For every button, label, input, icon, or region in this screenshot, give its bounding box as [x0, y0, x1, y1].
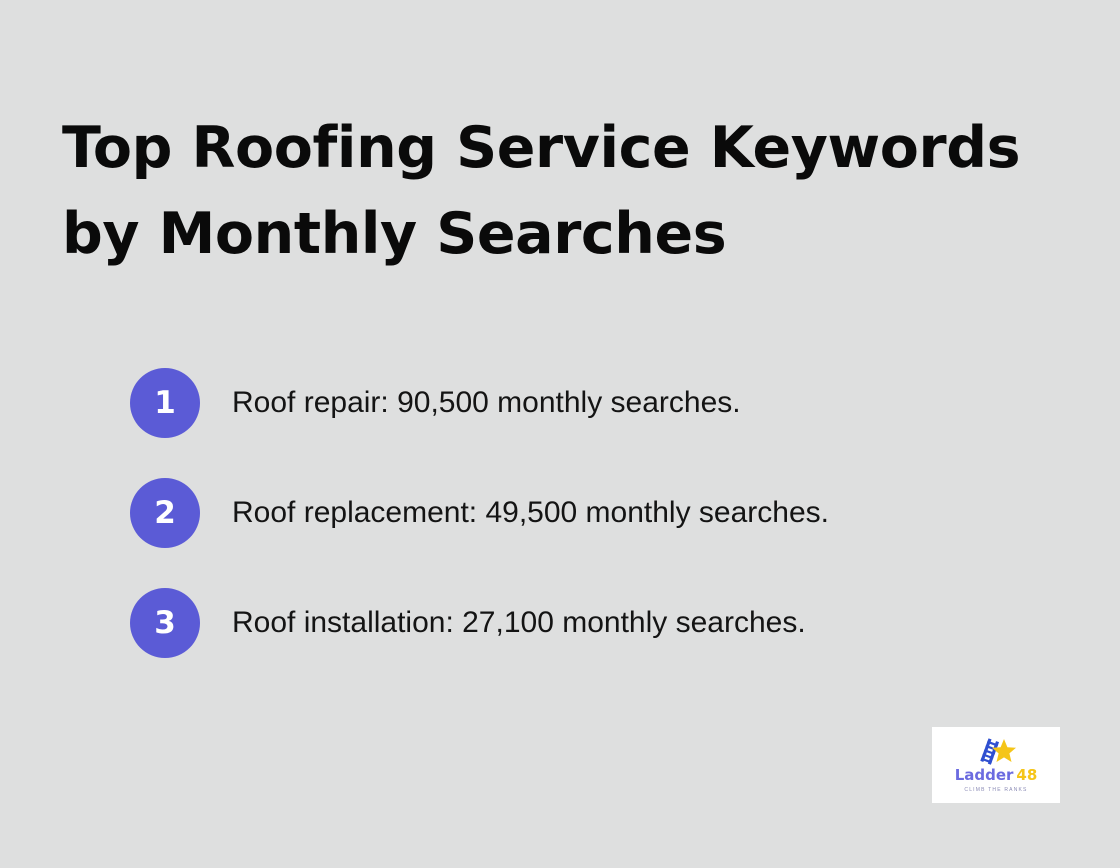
list-item-badge-2: 2	[130, 478, 200, 548]
keyword-list: 1 Roof repair: 90,500 monthly searches. …	[130, 368, 1030, 698]
list-item-badge-1: 1	[130, 368, 200, 438]
title-block: Top Roofing Service Keywords by Monthly …	[62, 106, 1042, 277]
logo-tagline: CLIMB THE RANKS	[964, 787, 1027, 793]
list-item: 3 Roof installation: 27,100 monthly sear…	[130, 588, 1030, 658]
list-item: 2 Roof replacement: 49,500 monthly searc…	[130, 478, 1030, 548]
page-title: Top Roofing Service Keywords by Monthly …	[62, 106, 1042, 277]
logo-word-main: Ladder	[955, 766, 1014, 784]
list-item-label-2: Roof replacement: 49,500 monthly searche…	[232, 495, 829, 531]
list-item-label-1: Roof repair: 90,500 monthly searches.	[232, 385, 741, 421]
list-item: 1 Roof repair: 90,500 monthly searches.	[130, 368, 1030, 438]
logo-word-number: 48	[1016, 766, 1037, 784]
logo-wordmark: Ladder48	[955, 768, 1038, 783]
list-item-label-3: Roof installation: 27,100 monthly search…	[232, 605, 806, 641]
slide-canvas: Top Roofing Service Keywords by Monthly …	[0, 0, 1120, 868]
ladder-star-icon	[974, 738, 1018, 766]
logo-card: Ladder48 CLIMB THE RANKS	[932, 727, 1060, 803]
list-item-badge-3: 3	[130, 588, 200, 658]
